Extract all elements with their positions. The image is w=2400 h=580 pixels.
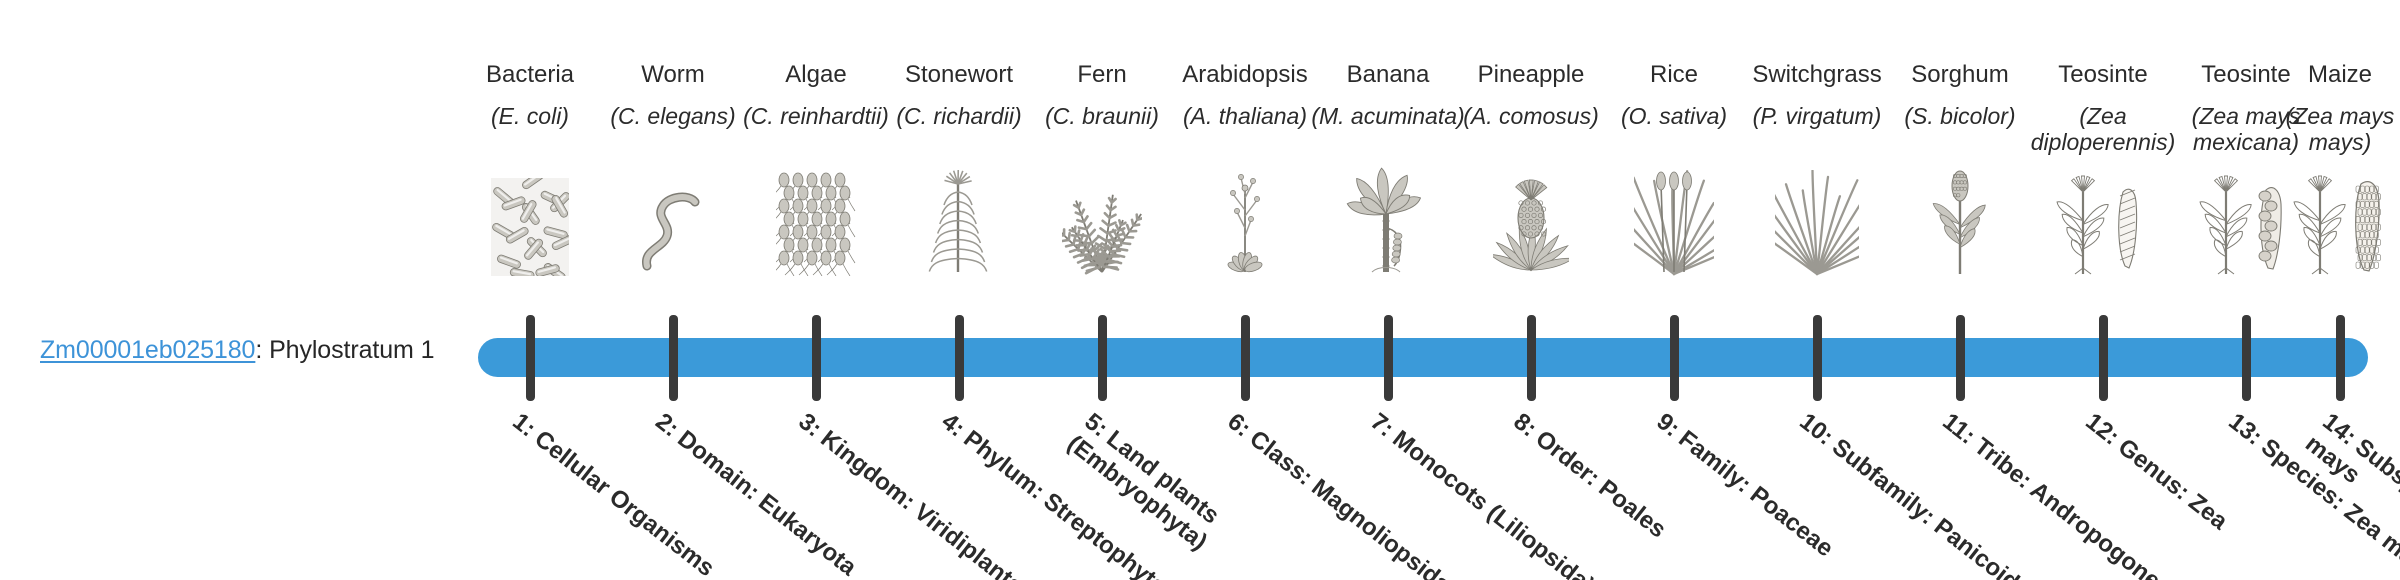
arabidopsis-icon <box>1165 166 1325 276</box>
species-latin-name: (C. richardii) <box>879 104 1039 160</box>
switchgrass-icon <box>1737 166 1897 276</box>
species-latin-name: (E. coli) <box>450 104 610 160</box>
species-column: Bacteria(E. coli) <box>450 0 610 276</box>
phylostratum-tick[interactable] <box>1670 315 1679 401</box>
species-column: Switchgrass(P. virgatum) <box>1737 0 1897 276</box>
species-common-name: Arabidopsis <box>1165 62 1325 92</box>
species-common-name: Pineapple <box>1451 62 1611 92</box>
phylostratum-tick[interactable] <box>1956 315 1965 401</box>
species-column: Stonewort(C. richardii) <box>879 0 1039 276</box>
stonewort-icon <box>879 166 1039 276</box>
rice-icon <box>1594 166 1754 276</box>
species-latin-name: (A. thaliana) <box>1165 104 1325 160</box>
phylostratum-tick[interactable] <box>2099 315 2108 401</box>
algae-icon <box>736 166 896 276</box>
gene-id-link[interactable]: Zm00001eb025180 <box>40 336 255 364</box>
species-column: Sorghum(S. bicolor) <box>1880 0 2040 276</box>
maize-icon <box>2260 166 2400 276</box>
phylostratum-track-bar[interactable] <box>478 338 2368 377</box>
teosinte-diploperennis-icon <box>2023 166 2183 276</box>
species-common-name: Rice <box>1594 62 1754 92</box>
phylostratum-tick[interactable] <box>955 315 964 401</box>
species-column: Teosinte(Zea diploperennis) <box>2023 0 2183 276</box>
gene-phylostratum-label: Zm00001eb025180: Phylostratum 1 <box>40 336 434 365</box>
species-column: Arabidopsis(A. thaliana) <box>1165 0 1325 276</box>
phylostratum-tick[interactable] <box>1098 315 1107 401</box>
phylostratum-tick[interactable] <box>526 315 535 401</box>
species-common-name: Sorghum <box>1880 62 2040 92</box>
phylostratum-tick[interactable] <box>812 315 821 401</box>
species-latin-name: (M. acuminata) <box>1308 104 1468 160</box>
species-latin-name: (P. virgatum) <box>1737 104 1897 160</box>
phylostratum-value: Phylostratum 1 <box>269 336 434 364</box>
phylostratum-tick[interactable] <box>2242 315 2251 401</box>
gene-label-separator: : <box>255 336 269 364</box>
species-common-name: Stonewort <box>879 62 1039 92</box>
species-latin-name: (C. elegans) <box>593 104 753 160</box>
species-common-name: Maize <box>2260 62 2400 92</box>
species-latin-name: (Zea diploperennis) <box>2023 104 2183 160</box>
species-column: Algae(C. reinhardtii) <box>736 0 896 276</box>
pineapple-icon <box>1451 166 1611 276</box>
bacteria-icon <box>450 166 610 276</box>
species-latin-name: (C. braunii) <box>1022 104 1182 160</box>
species-column: Pineapple(A. comosus) <box>1451 0 1611 276</box>
species-latin-name: (S. bicolor) <box>1880 104 2040 160</box>
species-common-name: Teosinte <box>2023 62 2183 92</box>
fern-icon <box>1022 166 1182 276</box>
phylostratum-tick[interactable] <box>1527 315 1536 401</box>
phylostratum-figure: Zm00001eb025180: Phylostratum 1 Bacteria… <box>0 0 2400 580</box>
species-common-name: Worm <box>593 62 753 92</box>
species-latin-name: (O. sativa) <box>1594 104 1754 160</box>
species-latin-name: (Zea mays mays) <box>2260 104 2400 160</box>
species-common-name: Fern <box>1022 62 1182 92</box>
phylostratum-tick[interactable] <box>669 315 678 401</box>
phylostratum-tick[interactable] <box>1813 315 1822 401</box>
species-column: Rice(O. sativa) <box>1594 0 1754 276</box>
species-column: Worm(C. elegans) <box>593 0 753 276</box>
species-column: Maize(Zea mays mays) <box>2260 0 2400 276</box>
species-common-name: Banana <box>1308 62 1468 92</box>
species-common-name: Bacteria <box>450 62 610 92</box>
phylostratum-tick[interactable] <box>1241 315 1250 401</box>
species-column: Banana(M. acuminata) <box>1308 0 1468 276</box>
worm-icon <box>593 166 753 276</box>
species-column: Fern(C. braunii) <box>1022 0 1182 276</box>
species-common-name: Algae <box>736 62 896 92</box>
phylostratum-tick[interactable] <box>1384 315 1393 401</box>
sorghum-icon <box>1880 166 2040 276</box>
species-common-name: Switchgrass <box>1737 62 1897 92</box>
species-latin-name: (C. reinhardtii) <box>736 104 896 160</box>
species-latin-name: (A. comosus) <box>1451 104 1611 160</box>
phylostratum-tick[interactable] <box>2336 315 2345 401</box>
banana-icon <box>1308 166 1468 276</box>
